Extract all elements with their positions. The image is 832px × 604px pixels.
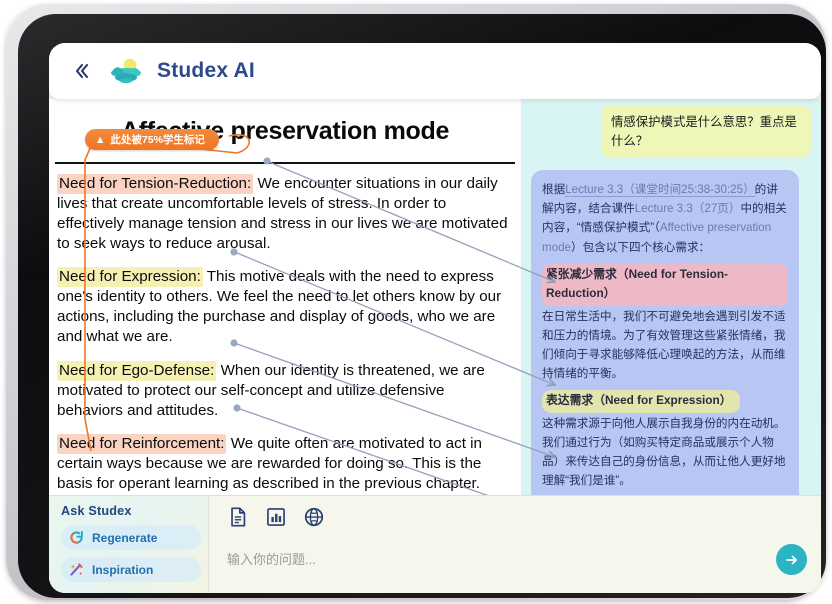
regenerate-label: Regenerate [92, 531, 157, 545]
chat-pane[interactable]: 情感保护模式是什么意思？重点是什么？ 根据Lecture 3.3（课堂时间25:… [521, 99, 821, 495]
highlighted-term: Need for Tension-Reduction: [57, 174, 253, 194]
section-heading: 表达需求（Need for Expression） [542, 390, 740, 412]
composer-row [227, 544, 807, 575]
highlighted-term: Need for Reinforcement: [57, 434, 226, 454]
refresh-icon [68, 529, 85, 546]
lotus-sun-logo-icon [107, 56, 145, 86]
ai-section: 紧张减少需求（Need for Tension-Reduction） 在日常生活… [542, 257, 788, 383]
chevron-double-left-icon [72, 61, 92, 81]
ai-message-bubble: 根据Lecture 3.3（课堂时间25:38-30:25）的讲解内容，结合课件… [531, 170, 799, 495]
section-body: 这种需求源于向他人展示自我身份的内在动机。我们通过行为（如购买特定商品或展示个人… [542, 414, 788, 491]
intro-part: ）包含以下四个核心需求： [571, 241, 710, 254]
bar-chart-icon[interactable] [265, 506, 287, 528]
doc-paragraph: Need for Reinforcement: We quite often a… [57, 434, 513, 494]
ai-section: 表达需求（Need for Expression） 这种需求源于向他人展示自我身… [542, 383, 788, 490]
ask-studex-panel: Ask Studex Regenerate [49, 496, 209, 593]
warning-triangle-icon: ▲ [95, 134, 105, 146]
slide-reference[interactable]: Lecture 3.3（27页） [635, 202, 741, 215]
question-input[interactable] [227, 552, 776, 567]
regenerate-button[interactable]: Regenerate [61, 525, 201, 550]
magic-wand-icon [68, 561, 85, 578]
highlighted-term: Need for Ego-Defense: [57, 361, 216, 381]
doc-paragraph: Need for Tension-Reduction: We encounter… [57, 174, 513, 254]
tablet-bezel: Studex AI Affective preservation mode Ne… [18, 14, 826, 598]
send-button[interactable] [776, 544, 807, 575]
inspiration-label: Inspiration [92, 563, 153, 577]
bottom-panel: Ask Studex Regenerate [49, 495, 821, 593]
composer-panel [209, 496, 821, 593]
globe-icon[interactable] [303, 506, 325, 528]
document-body: Need for Tension-Reduction: We encounter… [49, 164, 521, 494]
doc-paragraph: Need for Expression: This motive deals w… [57, 267, 513, 347]
annotation-badge[interactable]: ▲ 此处被75%学生标记 [85, 129, 219, 150]
lecture-reference[interactable]: Lecture 3.3（课堂时间25:38-30:25） [565, 183, 754, 197]
ai-intro-text: 根据Lecture 3.3（课堂时间25:38-30:25）的讲解内容，结合课件… [542, 180, 788, 257]
annotation-badge-label: 此处被75%学生标记 [110, 132, 205, 147]
doc-paragraph: Need for Ego-Defense: When our identity … [57, 361, 513, 421]
app-title: Studex AI [157, 59, 255, 83]
tablet-screen: Studex AI Affective preservation mode Ne… [49, 43, 821, 593]
inspiration-button[interactable]: Inspiration [61, 557, 201, 582]
tablet-frame-outer: Studex AI Affective preservation mode Ne… [6, 4, 826, 600]
tool-icon-row [209, 496, 821, 528]
chat-scroll-area[interactable]: 情感保护模式是什么意思？重点是什么？ 根据Lecture 3.3（课堂时间25:… [521, 99, 821, 495]
app-header: Studex AI [49, 43, 821, 99]
intro-part: 根据 [542, 183, 565, 196]
ask-studex-title: Ask Studex [61, 504, 198, 518]
section-body: 在日常生活中，我们不可避免地会遇到引发不适和压力的情境。为了有效管理这些紧张情绪… [542, 307, 788, 384]
document-pane[interactable]: Affective preservation mode Need for Ten… [49, 99, 521, 495]
highlighted-term: Need for Expression: [57, 267, 203, 287]
back-button[interactable] [67, 56, 97, 86]
user-message-bubble: 情感保护模式是什么意思？重点是什么？ [601, 105, 811, 158]
arrow-right-icon [783, 551, 801, 569]
section-heading: 紧张减少需求（Need for Tension-Reduction） [542, 264, 788, 306]
document-icon[interactable] [227, 506, 249, 528]
